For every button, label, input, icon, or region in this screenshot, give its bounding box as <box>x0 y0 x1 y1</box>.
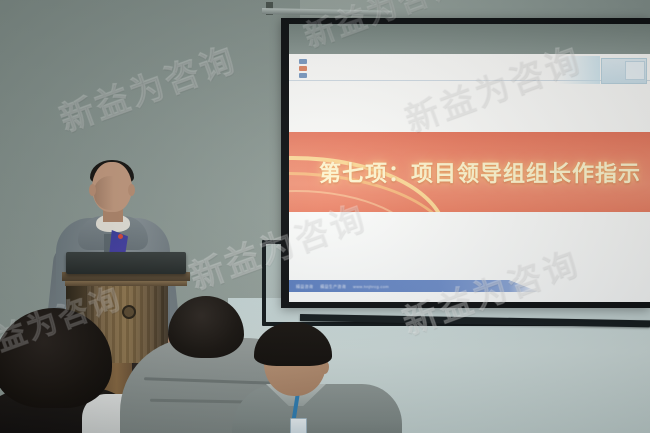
projector-screen-surface: 第七项：项目领导组组长作指示 精益咨询 精益生产咨询 www.hnjhrcg.c… <box>289 24 650 302</box>
slide-logo-icon <box>299 59 308 80</box>
footer-item-3: www.hnjhrcg.com <box>353 284 389 289</box>
speaker-ear <box>128 184 135 196</box>
banner-swoosh-icon <box>289 156 447 212</box>
banner-swoosh-icon <box>289 172 455 212</box>
audience-hair <box>254 322 332 366</box>
slide-topright-inner-box <box>625 61 645 80</box>
speaker-face-shading <box>94 176 130 210</box>
audience-head <box>0 308 112 408</box>
presentation-photo: 第七项：项目领导组组长作指示 精益咨询 精益生产咨询 www.hnjhrcg.c… <box>0 0 650 433</box>
id-badge <box>290 418 307 433</box>
presentation-slide: 第七项：项目领导组组长作指示 精益咨询 精益生产咨询 www.hnjhrcg.c… <box>289 54 650 302</box>
podium-desktop <box>66 252 186 274</box>
audience-member-left <box>0 308 136 433</box>
slide-title: 第七项：项目领导组组长作指示 <box>319 156 641 188</box>
footer-item-2: 精益生产咨询 <box>320 284 346 290</box>
screen-top-band <box>289 24 650 54</box>
banner-swoosh-icon <box>289 190 423 212</box>
speaker-ear <box>89 184 96 196</box>
slide-topright-glow <box>556 56 600 84</box>
audience-head <box>168 296 244 358</box>
slide-title-banner: 第七项：项目领导组组长作指示 <box>289 132 650 212</box>
footer-item-1: 精益咨询 <box>296 284 313 290</box>
slide-footer-text: 精益咨询 精益生产咨询 www.hnjhrcg.com <box>296 282 456 291</box>
speaker-sash-pin-icon <box>118 234 123 239</box>
audience-member-right <box>236 322 386 433</box>
